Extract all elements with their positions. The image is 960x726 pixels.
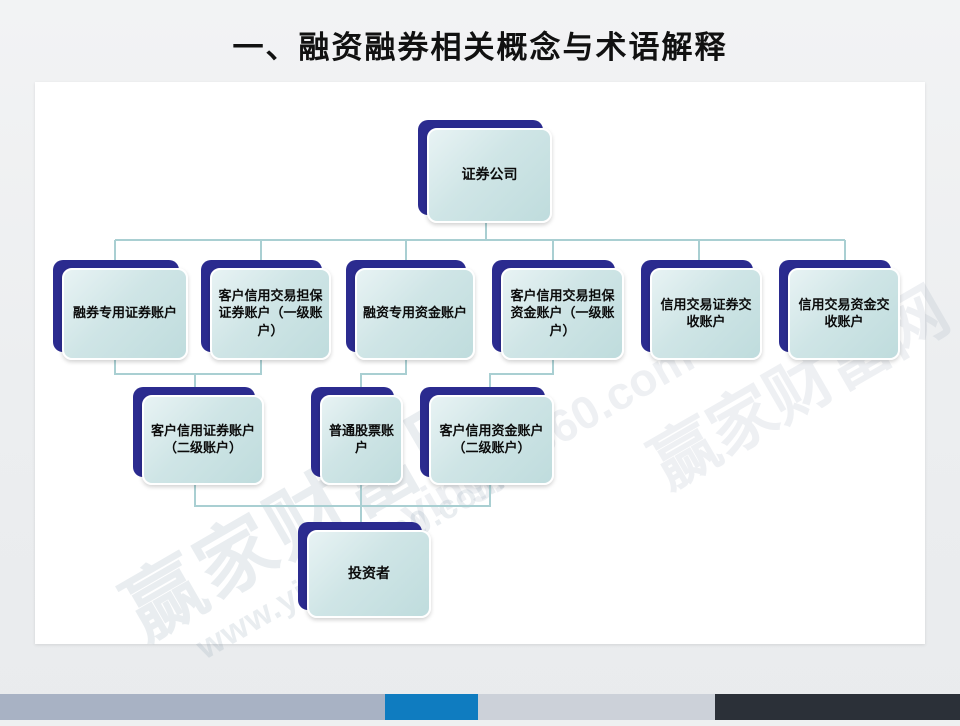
node-face: 证券公司	[427, 128, 552, 223]
node-face: 客户信用交易担保证券账户（一级账户）	[210, 268, 331, 360]
node-securities-company[interactable]: 证券公司	[418, 120, 543, 215]
diagram-panel: 赢家财富网 www.yingjia360.com yingjia360.com …	[35, 82, 925, 644]
connector-n3-to-n8	[361, 357, 406, 387]
node-label: 客户信用交易担保证券账户（一级账户）	[212, 286, 329, 341]
footer-segment-lightgray	[478, 694, 715, 720]
node-face: 融资专用资金账户	[355, 268, 475, 360]
footer-color-bar	[0, 694, 960, 720]
node-face: 客户信用资金账户（二级账户）	[429, 395, 554, 485]
node-label: 融资专用资金账户	[357, 303, 473, 324]
node-face: 信用交易证券交收账户	[650, 268, 762, 360]
node-client-credit-collateral-funds-account[interactable]: 客户信用交易担保资金账户（一级账户）	[492, 260, 615, 352]
connector-n7-to-n10	[195, 482, 361, 506]
connector-n1-to-n7	[115, 357, 195, 387]
node-face: 普通股票账户	[320, 395, 403, 485]
node-face: 投资者	[307, 530, 431, 618]
node-client-credit-funds-account[interactable]: 客户信用资金账户（二级账户）	[420, 387, 545, 477]
node-credit-trading-funds-settlement-account[interactable]: 信用交易资金交收账户	[779, 260, 891, 352]
node-face: 客户信用交易担保资金账户（一级账户）	[501, 268, 624, 360]
node-ordinary-stock-account[interactable]: 普通股票账户	[311, 387, 394, 477]
node-credit-trading-securities-settlement-account[interactable]: 信用交易证券交收账户	[641, 260, 753, 352]
node-face: 融券专用证券账户	[62, 268, 188, 360]
node-face: 客户信用证券账户（二级账户）	[142, 395, 264, 485]
node-label: 客户信用交易担保资金账户（一级账户）	[503, 286, 622, 341]
node-label: 信用交易证券交收账户	[652, 295, 760, 333]
node-label: 投资者	[342, 563, 396, 585]
node-investor[interactable]: 投资者	[298, 522, 422, 610]
page-title: 一、融资融券相关概念与术语解释	[0, 22, 960, 67]
footer-segment-darknavy	[715, 694, 960, 720]
node-client-credit-collateral-securities-account[interactable]: 客户信用交易担保证券账户（一级账户）	[201, 260, 322, 352]
footer-segment-grayblue	[0, 694, 385, 720]
node-margin-financing-dedicated-funds-account[interactable]: 融资专用资金账户	[346, 260, 466, 352]
connector-n9-to-n10	[361, 482, 490, 506]
node-label: 融券专用证券账户	[67, 303, 183, 324]
node-label: 证券公司	[456, 164, 524, 186]
node-label: 客户信用资金账户（二级账户）	[431, 421, 552, 459]
connector-n4-to-n9	[490, 357, 553, 387]
presentation-slide: 一、融资融券相关概念与术语解释 赢家财富网 www.yingjia360.com…	[0, 0, 960, 720]
node-securities-lending-dedicated-account[interactable]: 融券专用证券账户	[53, 260, 179, 352]
node-label: 普通股票账户	[322, 421, 401, 459]
node-label: 客户信用证券账户（二级账户）	[144, 421, 262, 459]
node-client-credit-securities-account[interactable]: 客户信用证券账户（二级账户）	[133, 387, 255, 477]
node-label: 信用交易资金交收账户	[790, 295, 898, 333]
footer-segment-blue	[385, 694, 478, 720]
node-face: 信用交易资金交收账户	[788, 268, 900, 360]
